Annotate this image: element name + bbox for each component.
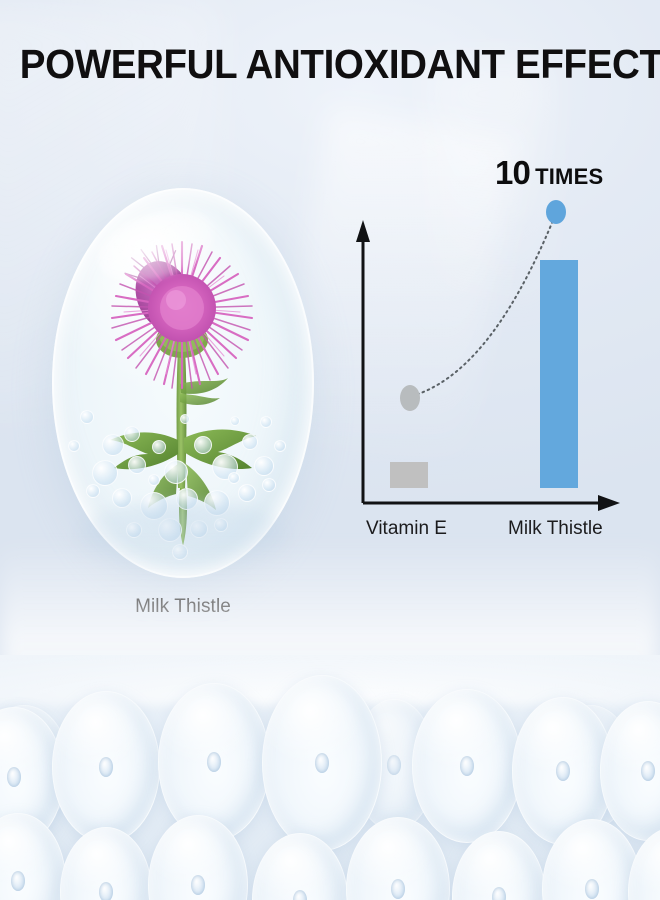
capsule [158,683,270,841]
poster-canvas: POWERFUL ANTIOXIDANT EFFECT [0,0,660,900]
multiplier-annotation: 10TIMES [495,154,603,192]
x-tick-vitamin-e: Vitamin E [366,518,447,540]
multiplier-number: 10 [495,154,530,191]
page-title: POWERFUL ANTIOXIDANT EFFECT [20,41,640,88]
capsule [0,813,66,900]
ingredient-caption: Milk Thistle [52,596,314,618]
capsule-texture-band [0,655,660,900]
x-tick-milk-thistle: Milk Thistle [508,518,603,540]
marker-milk-thistle [546,200,566,224]
antioxidant-comparison-chart: 10TIMES Vitamin E Milk Thistle [340,150,640,560]
capsule [412,689,522,843]
multiplier-word: TIMES [535,164,603,189]
capsule [262,675,382,851]
capsule [60,827,152,900]
bar-vitamin-e [390,462,428,488]
y-axis [356,220,370,503]
trend-curve [412,218,554,396]
capsule [346,817,450,900]
droplet-shadow [78,500,288,570]
capsule [52,691,160,843]
marker-vitamin-e [400,385,420,411]
bar-milk-thistle [540,260,578,488]
chart-plot-area [340,150,640,560]
x-axis [363,495,620,511]
ingredient-droplet [52,188,314,578]
